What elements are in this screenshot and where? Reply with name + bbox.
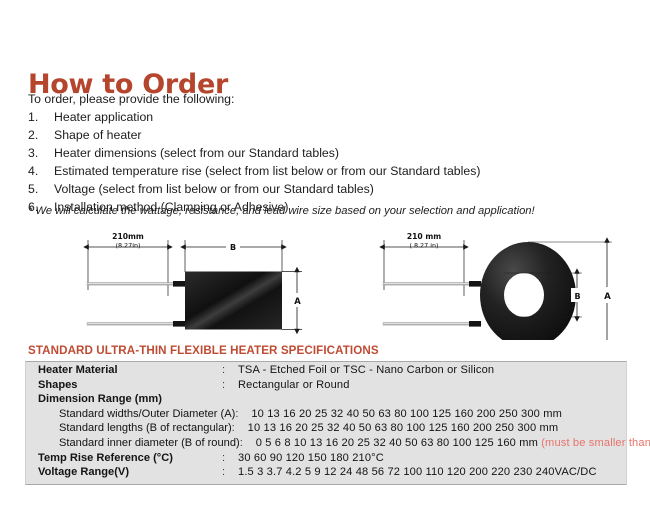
rectangular-heater-body [185,272,282,330]
spec-label: Standard lengths (B of rectangular) [26,422,232,434]
intro-text: To order, please provide the following: [28,92,234,106]
spec-colon: : [222,466,238,478]
spec-colon: : [222,364,238,376]
step-number: 5. [28,182,54,196]
table-row: Shapes : Rectangular or Round [26,379,626,394]
rect-lead-length-mm: 210mm [112,232,144,241]
spec-value-text: 0 5 6 8 10 13 16 20 25 32 40 50 63 80 10… [256,437,542,449]
spec-colon: : [240,437,256,449]
step-number: 1. [28,110,54,124]
spec-value-note: (must be smaller than A) [541,437,650,449]
table-row: Standard inner diameter (B of round) : 0… [26,437,626,452]
rect-width-label: B [230,243,236,252]
spec-value: TSA - Etched Foil or TSC - Nano Carbon o… [238,364,626,376]
spec-value: 1.5 3 3.7 4.2 5 9 12 24 48 56 72 100 110… [238,466,626,478]
document-page: How to Order To order, please provide th… [0,0,650,523]
spec-label: Heater Material [26,364,222,376]
table-row: Dimension Range (mm) [26,393,626,408]
spec-table: Heater Material : TSA - Etched Foil or T… [25,361,627,485]
spec-colon: : [222,379,238,391]
round-lead-length-in: ( 8.27 in) [409,242,438,250]
spec-colon: : [235,408,251,420]
spec-label: Shapes [26,379,222,391]
list-item: 5. Voltage (select from list below or fr… [28,182,628,200]
table-row: Standard widths/Outer Diameter (A) : 10 … [26,408,626,423]
spec-label: Standard widths/Outer Diameter (A) [26,408,235,420]
table-row: Voltage Range(V) : 1.5 3 3.7 4.2 5 9 12 … [26,466,626,481]
round-outer-label: A [604,292,611,302]
step-label: Estimated temperature rise (select from … [54,164,480,178]
spec-value: Rectangular or Round [238,379,626,391]
step-label: Voltage (select from list below or from … [54,182,374,196]
spec-label: Dimension Range (mm) [26,393,222,405]
step-label: Heater application [54,110,153,124]
spec-value: 0 5 6 8 10 13 16 20 25 32 40 50 63 80 10… [256,437,650,449]
list-item: 3. Heater dimensions (select from our St… [28,146,628,164]
spec-value: 10 13 16 20 25 32 40 50 63 80 100 125 16… [251,408,626,420]
round-heater-diagram: 210 mm ( 8.27 in) B [383,232,614,340]
spec-table-heading: STANDARD ULTRA-THIN FLEXIBLE HEATER SPEC… [28,344,379,357]
spec-value: 30 60 90 120 150 180 210°C [238,452,626,464]
heater-diagrams: 210mm (8.27in) B A [0,228,650,340]
round-lead-length-mm: 210 mm [407,232,441,241]
list-item: 1. Heater application [28,110,628,128]
list-item: 2. Shape of heater [28,128,628,146]
step-number: 2. [28,128,54,142]
round-heater-hole [504,273,544,317]
spec-label: Temp Rise Reference (°C) [26,452,222,464]
spec-label: Standard inner diameter (B of round) [26,437,240,449]
step-label: Heater dimensions (select from our Stand… [54,146,339,160]
order-steps-list: 1. Heater application 2. Shape of heater… [28,110,628,218]
rect-height-label: A [294,296,301,306]
table-row: Standard lengths (B of rectangular) : 10… [26,422,626,437]
heater-diagram-svg: 210mm (8.27in) B A [0,228,650,340]
table-row: Temp Rise Reference (°C) : 30 60 90 120 … [26,452,626,467]
spec-label: Voltage Range(V) [26,466,222,478]
spec-colon: : [232,422,248,434]
step-label: Shape of heater [54,128,142,142]
footnote-text: * We will calculate the wattage, resista… [28,205,535,217]
list-item: 4. Estimated temperature rise (select fr… [28,164,628,182]
table-row: Heater Material : TSA - Etched Foil or T… [26,364,626,379]
rect-lead-length-in: (8.27in) [115,242,140,250]
rectangular-heater-diagram: 210mm (8.27in) B A [87,232,304,330]
step-number: 3. [28,146,54,160]
spec-colon: : [222,452,238,464]
spec-value: 10 13 16 20 25 32 40 50 63 80 100 125 16… [248,422,626,434]
step-number: 4. [28,164,54,178]
round-inner-label: B [574,292,580,301]
